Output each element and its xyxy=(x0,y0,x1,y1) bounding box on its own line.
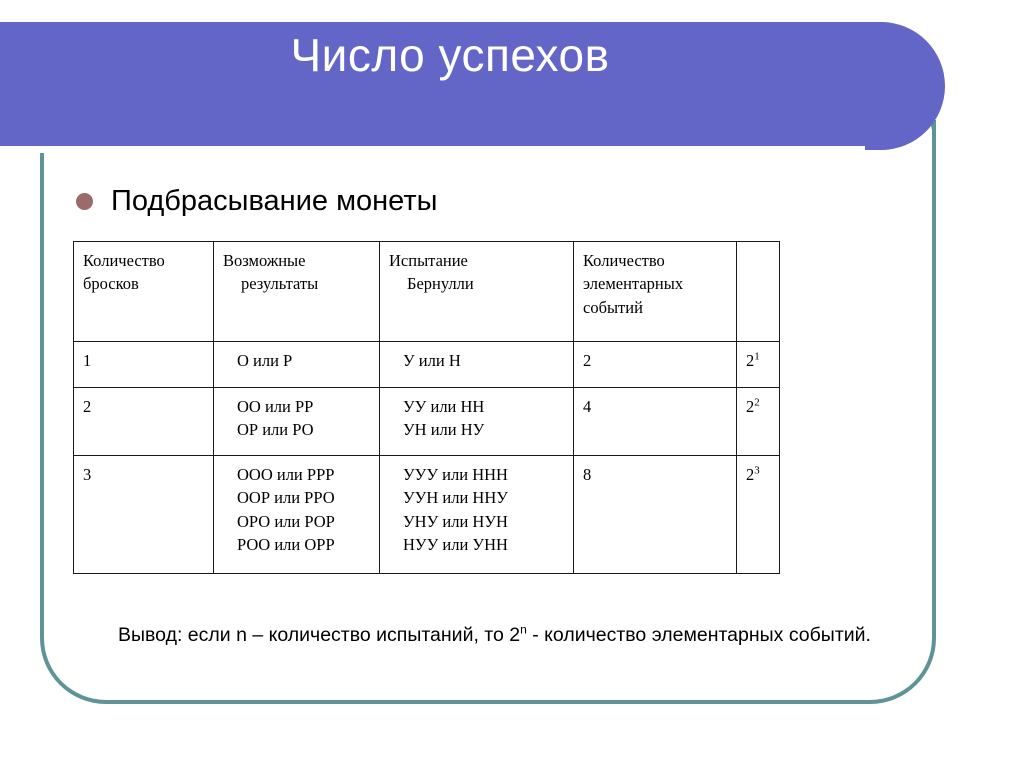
cell-power: 21 xyxy=(737,342,780,388)
header-line: Испытание xyxy=(389,251,468,270)
table-body: 1 О или Р У или Н 2 21 2 ОО или РР ОР ил… xyxy=(74,342,780,574)
cell-throws: 1 xyxy=(74,342,214,388)
column-header-outcomes: Возможные результаты xyxy=(214,242,380,342)
conclusion-text: Вывод: если n – количество испытаний, то… xyxy=(118,620,878,650)
cell-outcomes: ООО или РРР ООР или РРО ОРО или РОР РОО … xyxy=(214,456,380,574)
header-line: событий xyxy=(583,298,643,317)
title-divider-rule xyxy=(0,146,865,153)
header-line: бросков xyxy=(83,274,139,293)
cell-power: 22 xyxy=(737,388,780,456)
column-header-throws: Количество бросков xyxy=(74,242,214,342)
header-line: Возможные xyxy=(223,251,305,270)
bullet-dot-icon xyxy=(76,193,93,210)
power-exponent: 1 xyxy=(754,351,759,363)
bernoulli-line: УН или НУ xyxy=(389,418,564,441)
cell-event-count: 8 xyxy=(574,456,737,574)
page-title: Число успехов xyxy=(0,30,900,81)
table-row: 3 ООО или РРР ООР или РРО ОРО или РОР РО… xyxy=(74,456,780,574)
bernoulli-line: У или Н xyxy=(389,349,564,372)
header-line: Бернулли xyxy=(389,272,564,295)
table-row: 1 О или Р У или Н 2 21 xyxy=(74,342,780,388)
cell-bernoulli: У или Н xyxy=(380,342,574,388)
coin-toss-table: Количество бросков Возможные результаты … xyxy=(73,241,780,574)
cell-throws: 3 xyxy=(74,456,214,574)
bernoulli-line: УУН или ННУ xyxy=(389,486,564,509)
outcome-line: РОО или ОРР xyxy=(223,533,370,556)
cell-event-count: 2 xyxy=(574,342,737,388)
cell-power: 23 xyxy=(737,456,780,574)
table-row: 2 ОО или РР ОР или РО УУ или НН УН или Н… xyxy=(74,388,780,456)
cell-event-count: 4 xyxy=(574,388,737,456)
cell-outcomes: ОО или РР ОР или РО xyxy=(214,388,380,456)
table-header-row: Количество бросков Возможные результаты … xyxy=(74,242,780,342)
outcome-line: ООР или РРО xyxy=(223,486,370,509)
slide-canvas: Число успехов Подбрасывание монеты Колич… xyxy=(0,0,1024,767)
column-header-power xyxy=(737,242,780,342)
conclusion-suffix: - количество элементарных событий. xyxy=(527,624,871,646)
bernoulli-line: НУУ или УНН xyxy=(389,533,564,556)
header-line: элементарных xyxy=(583,274,683,293)
outcome-line: ООО или РРР xyxy=(223,463,370,486)
power-base: 2 xyxy=(746,397,754,416)
power-exponent: 3 xyxy=(754,465,759,477)
power-base: 2 xyxy=(746,351,754,370)
column-header-bernoulli: Испытание Бернулли xyxy=(380,242,574,342)
outcome-line: ОРО или РОР xyxy=(223,510,370,533)
header-line: Количество xyxy=(83,251,165,270)
cell-bernoulli: УУ или НН УН или НУ xyxy=(380,388,574,456)
header-line: результаты xyxy=(223,272,370,295)
outcome-line: ОР или РО xyxy=(223,418,370,441)
cell-outcomes: О или Р xyxy=(214,342,380,388)
column-header-elementary-events: Количество элементарных событий xyxy=(574,242,737,342)
bernoulli-line: УНУ или НУН xyxy=(389,510,564,533)
outcome-line: О или Р xyxy=(223,349,370,372)
power-base: 2 xyxy=(746,465,754,484)
bernoulli-line: УУУ или ННН xyxy=(389,463,564,486)
bernoulli-line: УУ или НН xyxy=(389,395,564,418)
outcome-line: ОО или РР xyxy=(223,395,370,418)
power-exponent: 2 xyxy=(754,397,759,409)
bullet-item-label: Подбрасывание монеты xyxy=(111,186,437,218)
header-line: Количество xyxy=(583,251,665,270)
table-head: Количество бросков Возможные результаты … xyxy=(74,242,780,342)
conclusion-exponent: n xyxy=(520,623,527,637)
cell-throws: 2 xyxy=(74,388,214,456)
bullet-item-coin-toss: Подбрасывание монеты xyxy=(76,186,437,218)
cell-bernoulli: УУУ или ННН УУН или ННУ УНУ или НУН НУУ … xyxy=(380,456,574,574)
conclusion-prefix: Вывод: если n – количество испытаний, то… xyxy=(118,624,520,646)
